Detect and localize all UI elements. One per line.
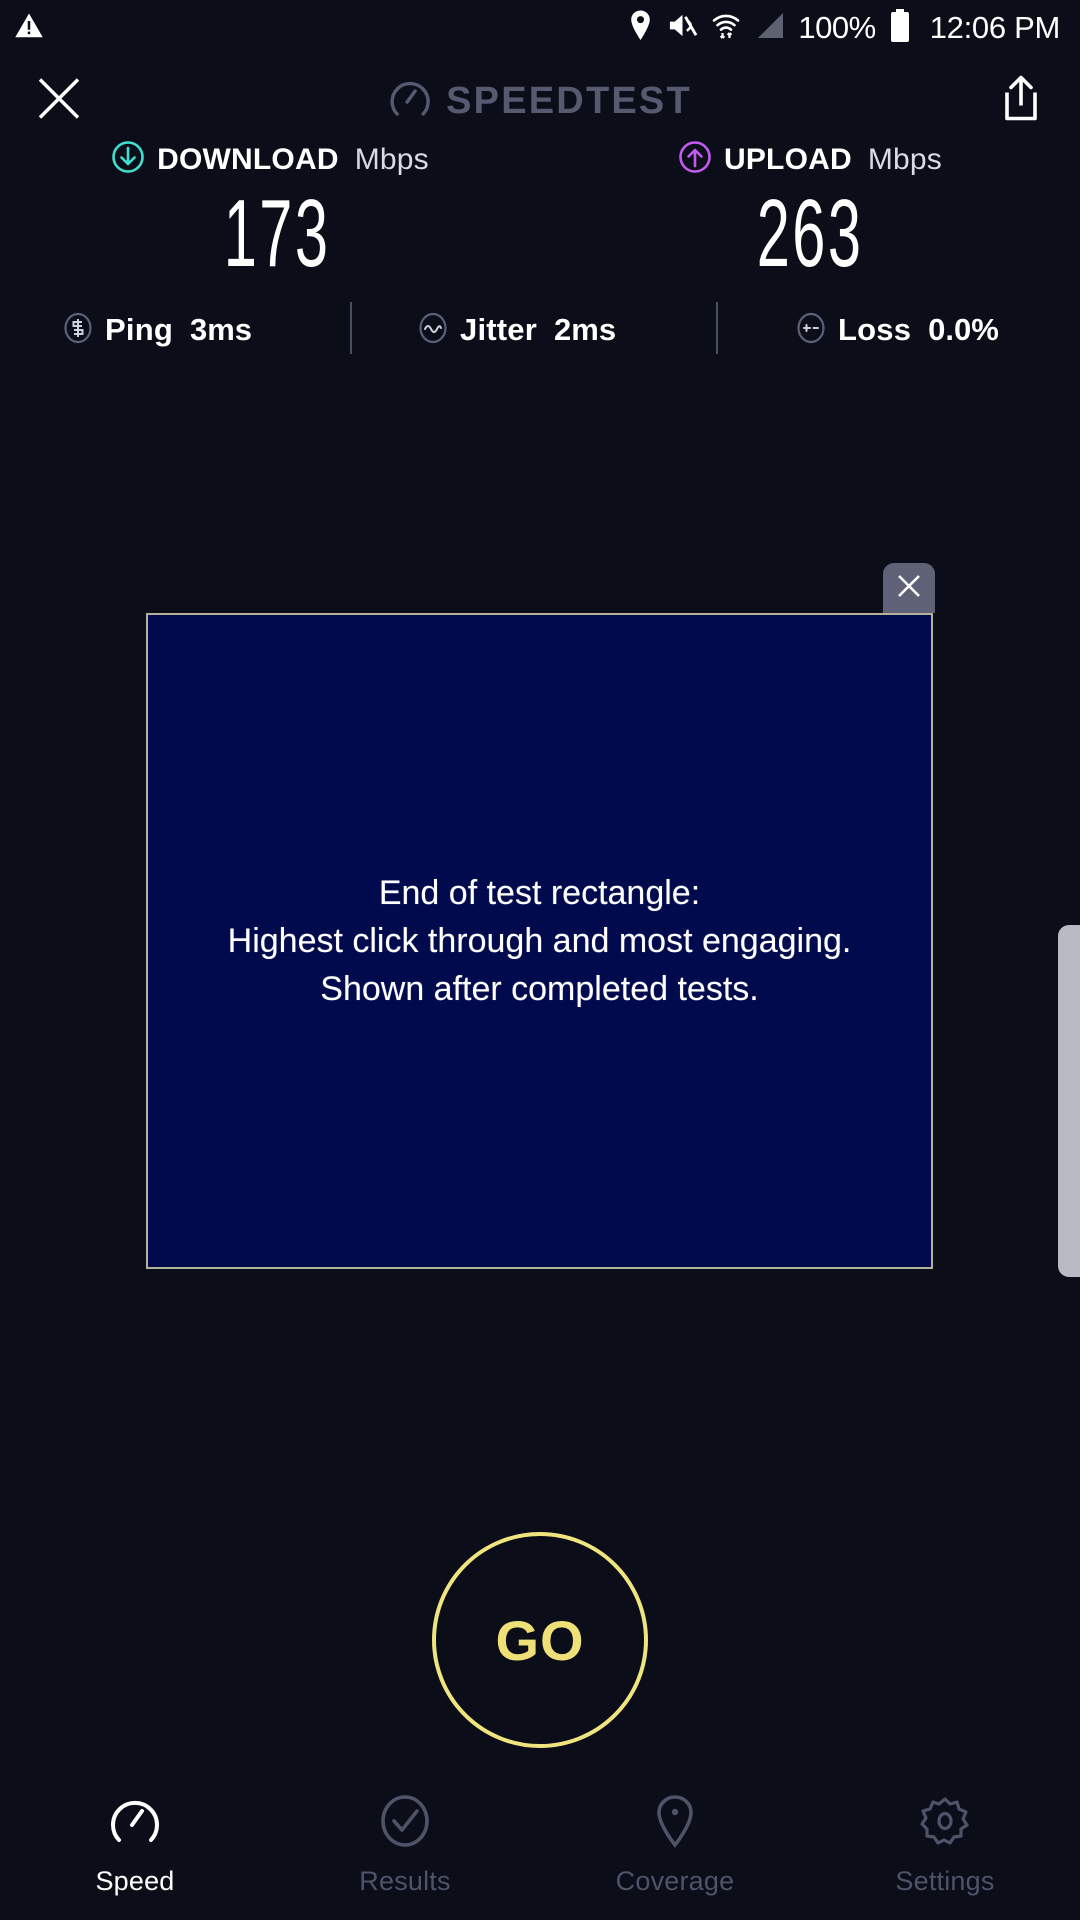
nav-item-settings-label: Settings — [895, 1866, 994, 1897]
nav-item-coverage-label: Coverage — [616, 1866, 735, 1897]
close-icon[interactable] — [36, 76, 82, 127]
page-title: SPEEDTEST — [446, 80, 692, 123]
go-button[interactable]: GO — [432, 1532, 648, 1748]
ad-close-button[interactable] — [883, 563, 935, 613]
metric-ping: Ping 3ms — [62, 312, 252, 349]
cellular-signal-icon — [754, 11, 785, 45]
metric-jitter: Jitter 2ms — [417, 312, 616, 349]
nav-item-results[interactable]: Results — [270, 1770, 540, 1920]
download-result: DOWNLOAD Mbps 173 — [0, 140, 540, 285]
connection-metrics: Ping 3ms Jitter 2ms Loss 0.0% — [0, 300, 1080, 360]
location-pin-icon — [627, 10, 654, 46]
upload-header: UPLOAD Mbps — [678, 140, 942, 179]
clock-label: 12:06 PM — [930, 10, 1060, 46]
metric-divider — [350, 302, 352, 354]
speedometer-icon — [388, 77, 432, 126]
download-value: 173 — [224, 183, 331, 285]
metric-ping-value: 3ms — [190, 312, 252, 348]
brand: SPEEDTEST — [388, 77, 692, 126]
metric-divider — [716, 302, 718, 354]
gear-icon — [917, 1793, 973, 1854]
metric-loss-value: 0.0% — [928, 312, 999, 348]
jitter-icon — [417, 312, 449, 349]
speed-results: DOWNLOAD Mbps 173 UPLOAD Mbps 263 — [0, 140, 1080, 285]
nav-item-settings[interactable]: Settings — [810, 1770, 1080, 1920]
metric-jitter-label: Jitter — [460, 312, 537, 348]
download-arrow-icon — [111, 140, 145, 179]
go-button-label: GO — [495, 1608, 584, 1673]
app-header: SPEEDTEST — [0, 56, 1080, 146]
advertisement-banner[interactable]: End of test rectangle: Highest click thr… — [146, 613, 933, 1269]
nav-item-coverage[interactable]: Coverage — [540, 1770, 810, 1920]
metric-ping-label: Ping — [105, 312, 173, 348]
location-pin-icon — [647, 1793, 703, 1854]
bottom-navigation: Speed Results Coverage Settings — [0, 1770, 1080, 1920]
ad-text: End of test rectangle: Highest click thr… — [228, 869, 852, 1014]
vertical-scrollbar[interactable] — [1058, 925, 1080, 1277]
download-unit: Mbps — [355, 143, 429, 177]
upload-unit: Mbps — [868, 143, 942, 177]
download-label: DOWNLOAD — [157, 143, 339, 177]
check-circle-icon — [377, 1793, 433, 1854]
mute-icon — [667, 11, 698, 45]
status-bar-right: 100% 12:06 PM — [627, 9, 1080, 48]
status-bar-left — [0, 11, 44, 46]
upload-arrow-icon — [678, 140, 712, 179]
nav-item-results-label: Results — [359, 1866, 450, 1897]
upload-label: UPLOAD — [724, 143, 852, 177]
metric-loss: Loss 0.0% — [795, 312, 999, 349]
upload-result: UPLOAD Mbps 263 — [540, 140, 1080, 285]
close-icon — [894, 571, 924, 606]
battery-full-icon — [889, 9, 911, 48]
download-header: DOWNLOAD Mbps — [111, 140, 429, 179]
status-bar: 100% 12:06 PM — [0, 0, 1080, 56]
ping-icon — [62, 312, 94, 349]
battery-percent-label: 100% — [798, 10, 875, 46]
speedometer-icon — [107, 1793, 163, 1854]
wifi-icon — [711, 10, 741, 46]
loss-icon — [795, 312, 827, 349]
nav-item-speed-label: Speed — [95, 1866, 174, 1897]
upload-value: 263 — [757, 183, 864, 285]
metric-loss-label: Loss — [838, 312, 911, 348]
metric-jitter-value: 2ms — [554, 312, 616, 348]
nav-item-speed[interactable]: Speed — [0, 1770, 270, 1920]
warning-triangle-icon — [14, 11, 44, 46]
share-icon[interactable] — [998, 74, 1044, 129]
